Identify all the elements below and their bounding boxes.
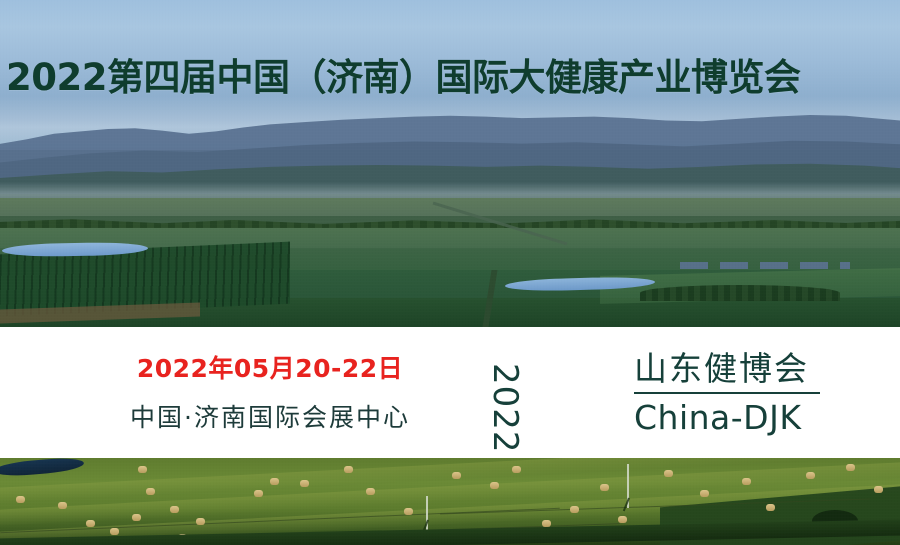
- bottom-pond: [0, 458, 84, 478]
- info-banner: 2022年05月20-22日 中国·济南国际会展中心 2022 山东健博会 Ch…: [0, 327, 900, 458]
- event-logo: 山东健博会 China-DJK: [634, 349, 824, 438]
- page-title: 2022第四届中国（济南）国际大健康产业博览会: [6, 56, 898, 100]
- tree-row: [640, 285, 840, 301]
- event-date: 2022年05月20-22日: [90, 349, 450, 385]
- logo-chinese-name: 山东健博会: [634, 349, 824, 389]
- event-details: 2022年05月20-22日 中国·济南国际会展中心: [90, 349, 450, 434]
- logo-divider: [634, 392, 820, 394]
- utility-pole-left: [426, 496, 428, 534]
- year-vertical-label: 2022: [485, 363, 525, 454]
- logo-english-name: China-DJK: [634, 398, 824, 438]
- event-venue: 中国·济南国际会展中心: [90, 398, 450, 434]
- farm-sheds: [680, 262, 850, 269]
- top-landscape-photo: [0, 0, 900, 327]
- event-poster: 2022第四届中国（济南）国际大健康产业博览会 2022年05月20-22日 中…: [0, 0, 900, 545]
- bottom-hayfield-photo: [0, 458, 900, 545]
